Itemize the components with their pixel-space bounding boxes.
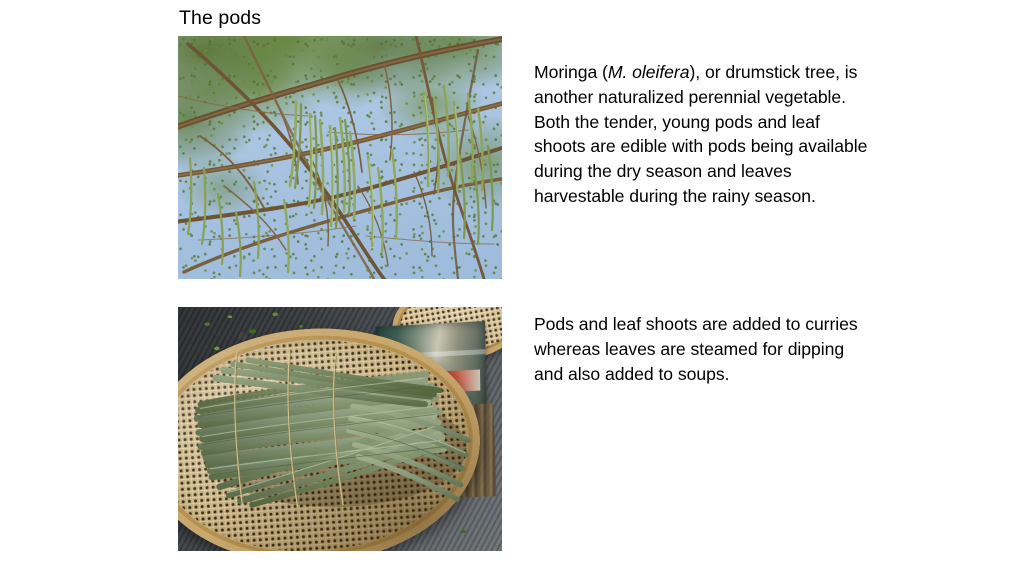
text-segment: Moringa (	[534, 62, 608, 82]
drumstick-pod-pile	[191, 348, 476, 509]
hanging-drumstick-pods	[178, 36, 502, 279]
moringa-tree-photo	[178, 36, 502, 279]
paragraph-culinary-use: Pods and leaf shoots are added to currie…	[534, 312, 876, 386]
text-segment: ), or drumstick tree, is another natural…	[534, 62, 867, 206]
slide-canvas: The pods	[0, 0, 1024, 576]
text-segment: Pods and leaf shoots are added to currie…	[534, 314, 858, 384]
text-segment: M. oleifera	[608, 62, 690, 82]
tree-scene	[178, 36, 502, 279]
paragraph-moringa-description: Moringa (M. oleifera), or drumstick tree…	[534, 60, 876, 209]
harvested-pods-photo	[178, 307, 502, 551]
page-title: The pods	[179, 6, 261, 30]
market-scene	[178, 307, 502, 551]
